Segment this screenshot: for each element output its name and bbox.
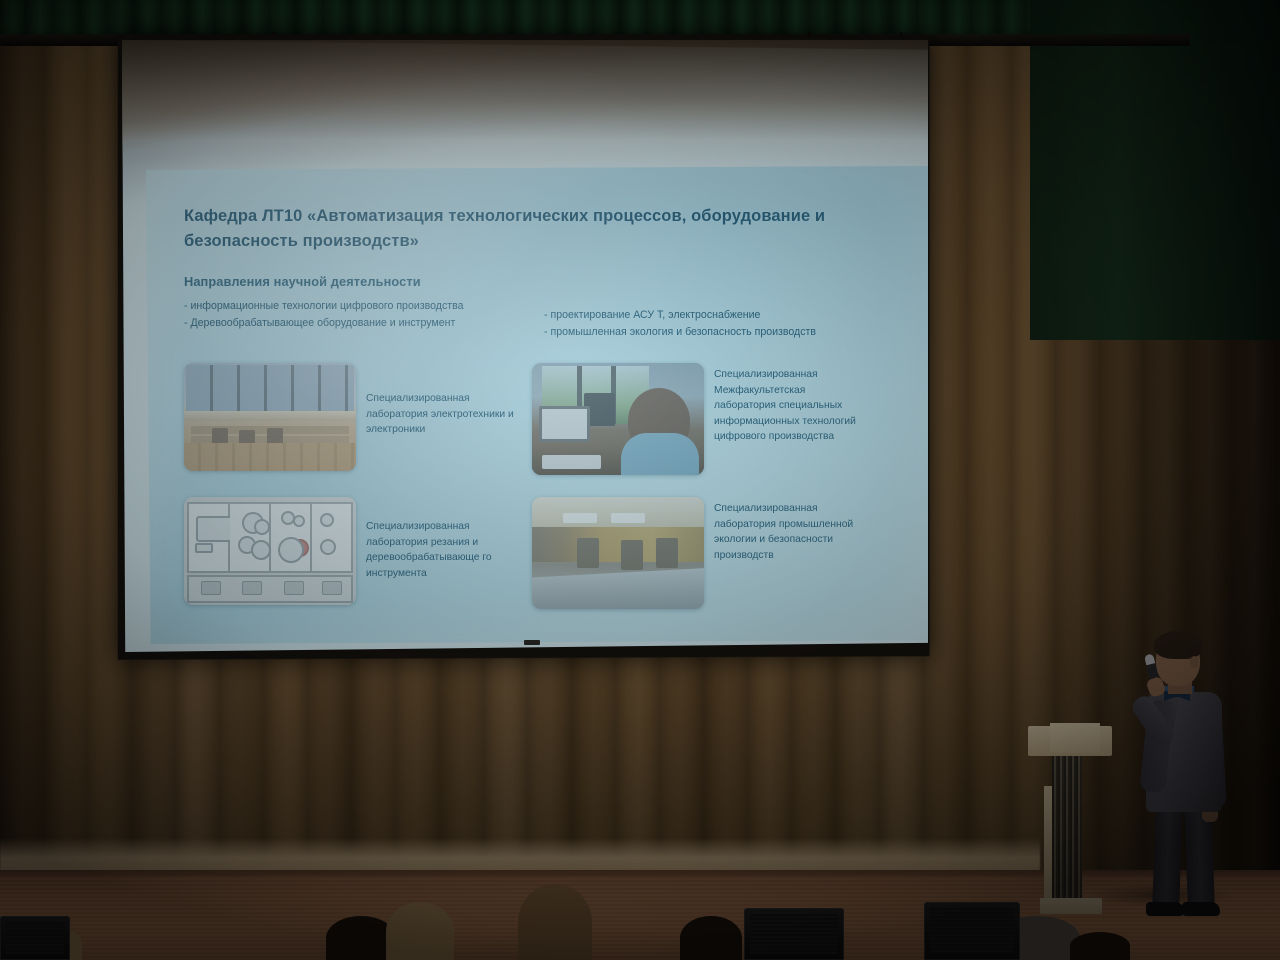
presenter-ear — [1190, 656, 1199, 668]
electrical-engineering-laboratory-photo — [184, 363, 356, 471]
photo-caption: Специализированная лаборатория промышлен… — [704, 497, 864, 563]
green-valance-right-panel — [1030, 0, 1280, 340]
bullet-item: - промышленная экология и безопасность п… — [544, 324, 894, 341]
podium-desktop-riser — [1050, 723, 1100, 753]
bullet-item: - проектирование АСУ Т, электроснабжение — [544, 307, 894, 324]
photo-row: Специализированная лаборатория резания и… — [184, 497, 894, 609]
podium-column — [1052, 754, 1082, 900]
photo-cell-cutting-tools-lab: Специализированная лаборатория резания и… — [184, 497, 536, 609]
presenter-shoe — [1146, 902, 1184, 916]
industrial-ecology-laboratory-hall-photo — [532, 497, 704, 609]
photo-cell-industrial-ecology-lab: Специализированная лаборатория промышлен… — [532, 497, 892, 609]
bullets-column-right: - проектирование АСУ Т, электроснабжение… — [544, 298, 894, 341]
stage-monitor-speaker — [744, 908, 844, 960]
audience-head-silhouette — [1070, 932, 1130, 960]
presenter-hair — [1154, 631, 1202, 659]
photo-row: Специализированная лаборатория электроте… — [184, 363, 894, 475]
screen-bottom-logo — [524, 640, 540, 645]
slide-subtitle: Направления научной деятельности — [184, 274, 894, 289]
photo-cell-electrotech-lab: Специализированная лаборатория электроте… — [184, 363, 536, 475]
presenter-speaker — [1128, 634, 1238, 924]
stage-monitor-speaker — [924, 902, 1020, 960]
bullet-item: - информационные технологии цифрового пр… — [184, 298, 534, 315]
photo-caption: Специализированная лаборатория резания и… — [356, 497, 516, 581]
stage-monitor-speaker — [0, 916, 70, 960]
bullet-item: - Деревообрабатывающее оборудование и ин… — [184, 315, 534, 332]
slide-title: Кафедра ЛТ10 «Автоматизация технологичес… — [184, 204, 844, 254]
presenter-shoe — [1182, 902, 1220, 916]
audience-head-silhouette — [680, 916, 742, 960]
research-directions-columns: - информационные технологии цифрового пр… — [184, 298, 894, 341]
presentation-slide: Кафедра ЛТ10 «Автоматизация технологичес… — [146, 166, 928, 644]
photo-caption: Специализированная лаборатория электроте… — [356, 363, 516, 437]
photo-cell-interfaculty-it-lab: Специализированная Межфакультетская лабо… — [532, 363, 892, 475]
audience-head-silhouette — [518, 884, 592, 960]
podium-side-panel — [1044, 786, 1052, 904]
laboratory-photo-grid: Специализированная лаборатория электроте… — [184, 363, 894, 609]
bullets-column-left: - информационные технологии цифрового пр… — [184, 298, 534, 341]
curtain-hem — [0, 838, 1040, 874]
photo-caption: Специализированная Межфакультетская лабо… — [704, 363, 864, 444]
saw-blade-display-cabinet-photo — [184, 497, 356, 605]
audience-head-silhouette — [386, 902, 454, 960]
auditorium-scene: Кафедра ЛТ10 «Автоматизация технологичес… — [0, 0, 1280, 960]
student-at-computer-workstation-photo — [532, 363, 704, 475]
